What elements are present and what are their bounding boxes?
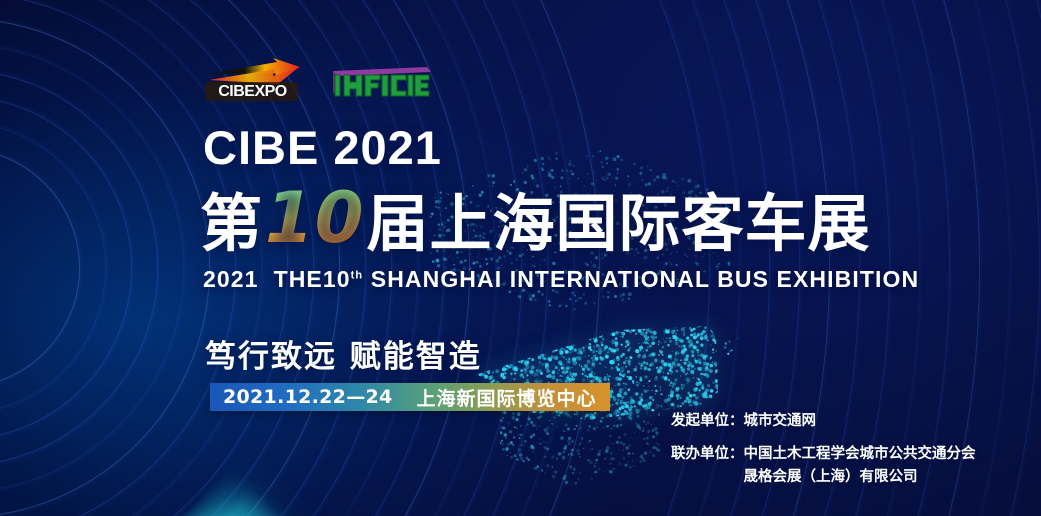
organizer-value: 城市交通网 xyxy=(744,410,817,432)
date-venue-badge: 2021.12.22—24 上海新国际博览中心 xyxy=(210,383,610,411)
coorganizer-label: 联办单位： xyxy=(671,443,744,488)
logo-row: CIBEXPO xyxy=(203,58,431,104)
organizer-block: 发起单位： 城市交通网 联办单位： 中国土木工程学会城市公共交通分会 晟格会展（… xyxy=(671,410,976,488)
page-title-eyebrow: CIBE 2021 xyxy=(203,124,442,171)
organizer-label: 发起单位： xyxy=(671,410,744,432)
en-ordinal: th xyxy=(351,269,364,281)
coorganizer-value-1: 中国土木工程学会城市公共交通分会 xyxy=(744,443,976,465)
en-year: 2021 xyxy=(203,266,259,292)
coorganizer-value-2: 晟格会展（上海）有限公司 xyxy=(744,466,976,488)
en-the-tenth: THE10 xyxy=(274,266,351,292)
en-rest: SHANGHAI INTERNATIONAL BUS EXHIBITION xyxy=(371,266,919,292)
hficie-icon xyxy=(327,62,431,100)
cibexpo-wordmark: CIBEXPO xyxy=(218,83,287,101)
coorganizer-row: 联办单位： 中国土木工程学会城市公共交通分会 晟格会展（上海）有限公司 xyxy=(671,443,976,488)
cibexpo-logo[interactable]: CIBEXPO xyxy=(203,58,302,104)
event-date: 2021.12.22—24 xyxy=(223,386,393,408)
event-poster: CIBEXPO CIBE 2021 第10届上海国际客车展 xyxy=(0,0,1041,516)
organizer-row: 发起单位： 城市交通网 xyxy=(671,410,976,432)
event-venue: 上海新国际博览中心 xyxy=(417,384,597,411)
page-title-cn: 第10届上海国际客车展 xyxy=(200,186,870,256)
title-prefix: 第 xyxy=(200,187,263,260)
title-edition-number: 10 xyxy=(263,183,366,253)
hficie-logo[interactable] xyxy=(327,62,431,100)
slogan: 笃行致远 赋能智造 xyxy=(205,331,482,376)
title-suffix: 届上海国际客车展 xyxy=(366,187,870,260)
page-title-en: 2021 THE10th SHANGHAI INTERNATIONAL BUS … xyxy=(203,266,919,293)
